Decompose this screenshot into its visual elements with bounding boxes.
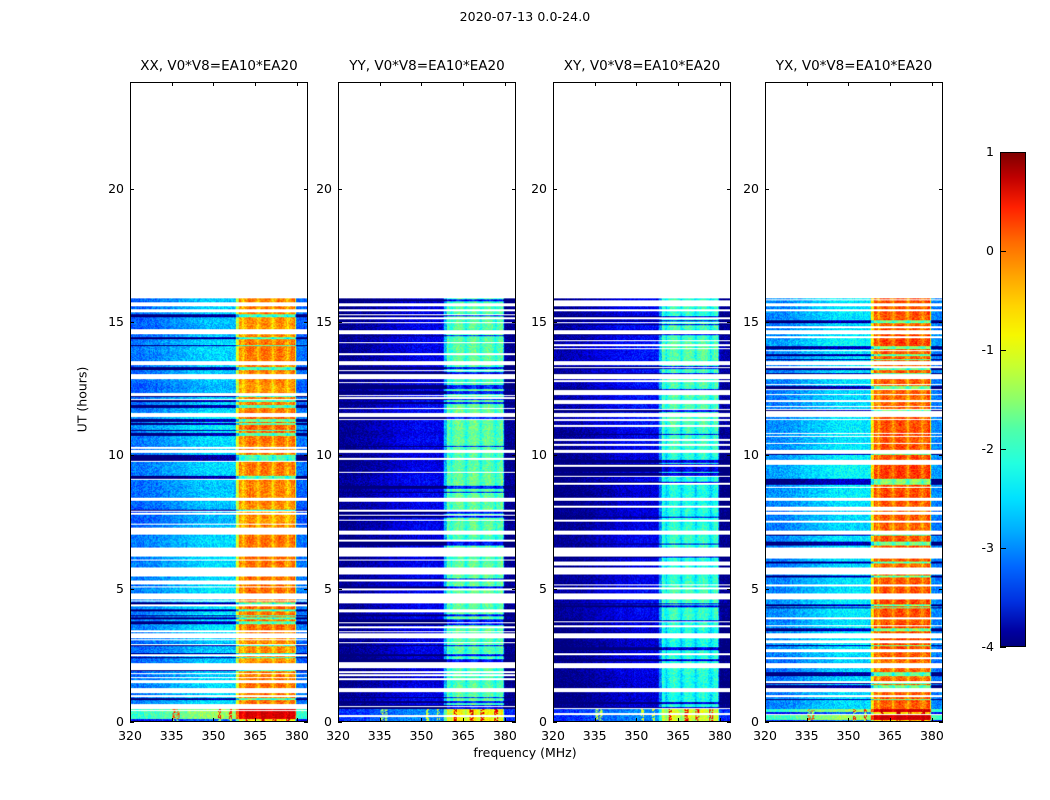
y-tick-label: 10: [723, 447, 759, 462]
y-tick-mark: [939, 455, 943, 456]
x-tick-label: 380: [277, 728, 317, 743]
y-tick-mark: [939, 322, 943, 323]
x-tick-mark: [553, 82, 554, 86]
colorbar-tick-mark: [1000, 251, 1006, 252]
colorbar: [1000, 152, 1026, 647]
colorbar-tick-mark: [1000, 647, 1006, 648]
y-tick-mark: [338, 322, 342, 323]
y-tick-label: 5: [88, 581, 124, 596]
x-tick-label: 335: [787, 728, 827, 743]
x-tick-mark: [678, 82, 679, 86]
heatmap-image-xx: [131, 83, 307, 721]
heatmap-image-xy: [554, 83, 730, 721]
x-tick-mark: [380, 718, 381, 722]
x-tick-mark: [463, 718, 464, 722]
x-tick-mark: [890, 718, 891, 722]
x-tick-mark: [505, 82, 506, 86]
x-tick-mark: [720, 718, 721, 722]
heatmap-image-yx: [766, 83, 942, 721]
x-tick-mark: [890, 82, 891, 86]
y-tick-mark: [553, 189, 557, 190]
y-tick-mark: [338, 589, 342, 590]
x-tick-label: 365: [235, 728, 275, 743]
heatmap-panel-xy[interactable]: [553, 82, 731, 722]
colorbar-tick-label: -2: [960, 441, 994, 456]
y-tick-mark: [130, 189, 134, 190]
heatmap-panel-yy[interactable]: [338, 82, 516, 722]
x-tick-label: 380: [700, 728, 740, 743]
y-tick-mark: [553, 455, 557, 456]
y-tick-mark: [939, 589, 943, 590]
x-tick-mark: [255, 718, 256, 722]
heatmap-panel-yx[interactable]: [765, 82, 943, 722]
y-tick-label: 20: [88, 181, 124, 196]
x-tick-mark: [636, 718, 637, 722]
x-tick-label: 350: [616, 728, 656, 743]
x-tick-mark: [932, 82, 933, 86]
panel-title-xx: XX, V0*V8=EA10*EA20: [130, 58, 308, 74]
y-tick-label: 5: [296, 581, 332, 596]
x-tick-mark: [807, 82, 808, 86]
y-tick-label: 0: [296, 714, 332, 729]
x-axis-title: frequency (MHz): [0, 745, 1050, 760]
x-tick-mark: [421, 718, 422, 722]
x-tick-mark: [213, 718, 214, 722]
x-tick-label: 335: [575, 728, 615, 743]
figure-suptitle: 2020-07-13 0.0-24.0: [0, 9, 1050, 24]
y-tick-label: 0: [723, 714, 759, 729]
x-tick-mark: [130, 82, 131, 86]
y-tick-mark: [939, 189, 943, 190]
x-tick-mark: [172, 718, 173, 722]
x-tick-mark: [463, 82, 464, 86]
panel-title-yy: YY, V0*V8=EA10*EA20: [338, 58, 516, 74]
x-tick-label: 320: [745, 728, 785, 743]
panel-title-xy: XY, V0*V8=EA10*EA20: [553, 58, 731, 74]
x-tick-label: 380: [485, 728, 525, 743]
y-tick-label: 10: [511, 447, 547, 462]
y-tick-mark: [130, 589, 134, 590]
colorbar-tick-label: 0: [960, 243, 994, 258]
y-tick-mark: [553, 322, 557, 323]
x-tick-label: 320: [110, 728, 150, 743]
x-tick-mark: [848, 82, 849, 86]
y-tick-label: 20: [296, 181, 332, 196]
y-tick-mark: [765, 589, 769, 590]
x-tick-mark: [213, 82, 214, 86]
y-tick-mark: [338, 722, 342, 723]
colorbar-tick-label: -1: [960, 342, 994, 357]
colorbar-tick-label: -4: [960, 639, 994, 654]
x-tick-label: 350: [401, 728, 441, 743]
y-tick-mark: [765, 322, 769, 323]
y-tick-label: 15: [511, 314, 547, 329]
x-tick-mark: [932, 718, 933, 722]
x-tick-mark: [380, 82, 381, 86]
x-tick-mark: [338, 82, 339, 86]
y-axis-title: UT (hours): [75, 330, 90, 470]
x-tick-mark: [678, 718, 679, 722]
x-tick-mark: [505, 718, 506, 722]
y-tick-mark: [765, 455, 769, 456]
x-tick-label: 320: [318, 728, 358, 743]
heatmap-panel-xx[interactable]: [130, 82, 308, 722]
y-tick-label: 15: [296, 314, 332, 329]
x-tick-mark: [172, 82, 173, 86]
y-tick-label: 0: [511, 714, 547, 729]
y-tick-mark: [765, 722, 769, 723]
y-tick-label: 5: [511, 581, 547, 596]
y-tick-label: 20: [723, 181, 759, 196]
x-tick-label: 350: [193, 728, 233, 743]
y-tick-label: 15: [88, 314, 124, 329]
heatmap-image-yy: [339, 83, 515, 721]
colorbar-tick-label: 1: [960, 144, 994, 159]
y-tick-label: 20: [511, 181, 547, 196]
colorbar-tick-mark: [1000, 350, 1006, 351]
y-tick-label: 10: [88, 447, 124, 462]
y-tick-mark: [130, 455, 134, 456]
y-tick-mark: [553, 722, 557, 723]
y-tick-label: 15: [723, 314, 759, 329]
x-tick-mark: [848, 718, 849, 722]
y-tick-label: 5: [723, 581, 759, 596]
x-tick-label: 365: [443, 728, 483, 743]
colorbar-tick-label: -3: [960, 540, 994, 555]
x-tick-mark: [807, 718, 808, 722]
y-tick-mark: [553, 589, 557, 590]
x-tick-label: 365: [870, 728, 910, 743]
y-tick-mark: [338, 455, 342, 456]
x-tick-mark: [636, 82, 637, 86]
x-tick-label: 320: [533, 728, 573, 743]
x-tick-mark: [765, 82, 766, 86]
y-tick-mark: [130, 322, 134, 323]
x-tick-mark: [595, 718, 596, 722]
x-tick-label: 380: [912, 728, 952, 743]
y-tick-label: 0: [88, 714, 124, 729]
x-tick-label: 350: [828, 728, 868, 743]
x-tick-mark: [297, 82, 298, 86]
colorbar-tick-mark: [1000, 449, 1006, 450]
x-tick-label: 335: [152, 728, 192, 743]
panel-title-yx: YX, V0*V8=EA10*EA20: [765, 58, 943, 74]
y-tick-mark: [939, 722, 943, 723]
x-tick-mark: [421, 82, 422, 86]
x-tick-mark: [720, 82, 721, 86]
colorbar-tick-mark: [1000, 152, 1006, 153]
y-tick-mark: [130, 722, 134, 723]
x-tick-mark: [255, 82, 256, 86]
y-tick-mark: [338, 189, 342, 190]
colorbar-tick-mark: [1000, 548, 1006, 549]
x-tick-label: 335: [360, 728, 400, 743]
y-tick-label: 10: [296, 447, 332, 462]
x-tick-mark: [595, 82, 596, 86]
x-tick-label: 365: [658, 728, 698, 743]
colorbar-gradient: [1001, 153, 1025, 646]
y-tick-mark: [765, 189, 769, 190]
figure-canvas: 2020-07-13 0.0-24.0 frequency (MHz) log1…: [0, 0, 1050, 800]
